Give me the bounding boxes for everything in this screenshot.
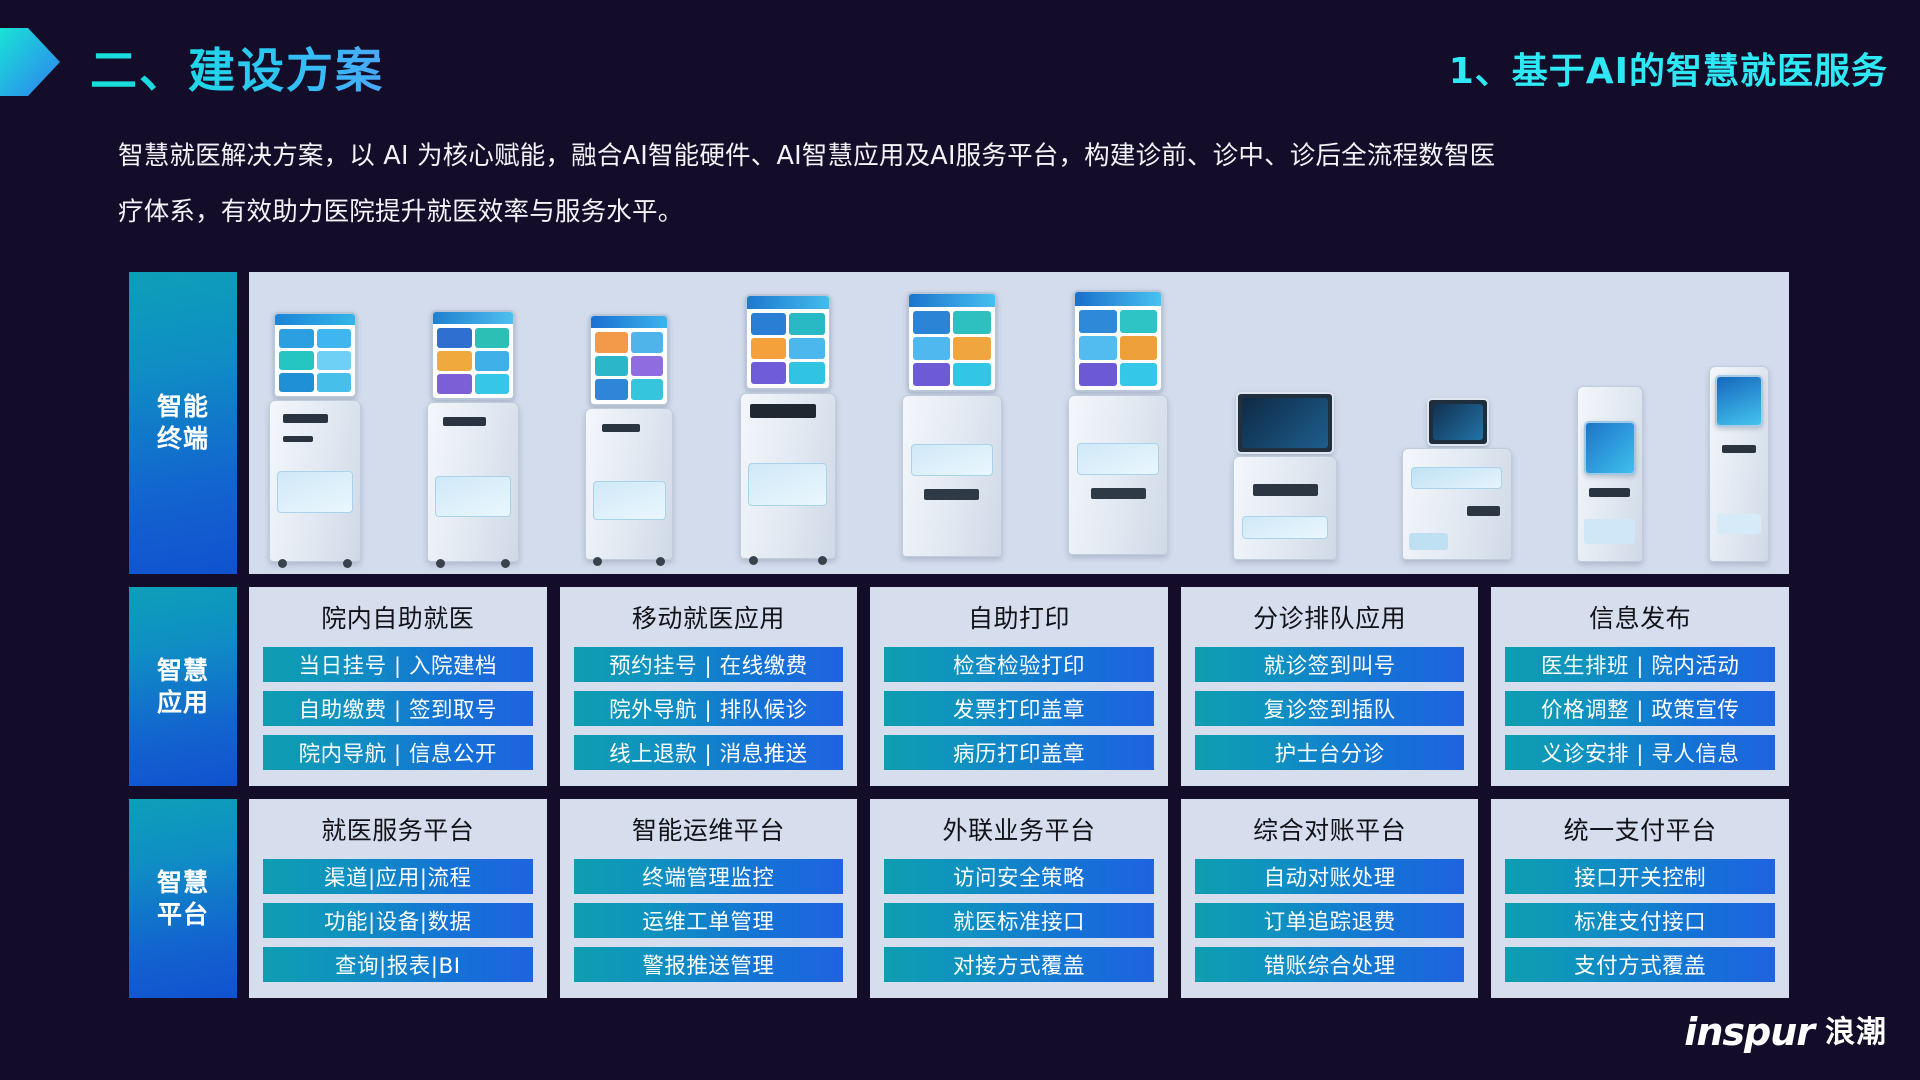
platform-pill[interactable]: 功能|设备|数据: [263, 903, 533, 938]
self-service-kiosk-printer: [738, 294, 838, 562]
app-pill[interactable]: 病历打印盖章: [884, 735, 1154, 770]
platform-pill[interactable]: 运维工单管理: [574, 903, 844, 938]
row-label-line-2: 终端: [157, 424, 209, 453]
card-title: 综合对账平台: [1195, 814, 1465, 848]
inspur-logo: inspur 浪潮: [1684, 1007, 1887, 1054]
row-label-line-1: 智慧: [157, 868, 209, 897]
row-label-line-1: 智慧: [157, 656, 209, 685]
platform-card-smart-ops[interactable]: 智能运维平台 终端管理监控 运维工单管理 警报推送管理: [560, 799, 858, 998]
card-title: 移动就医应用: [574, 602, 844, 636]
row-label-smart-applications: 智慧 应用: [129, 587, 237, 786]
self-service-kiosk-inspur-1: [900, 292, 1004, 562]
platform-card-medical-service[interactable]: 就医服务平台 渠道|应用|流程 功能|设备|数据 查询|报表|BI: [249, 799, 547, 998]
desktop-terminal-counter: [1232, 392, 1338, 562]
row-label-smart-platform: 智慧 平台: [129, 799, 237, 998]
platform-pill[interactable]: 自动对账处理: [1195, 859, 1465, 894]
app-card-hospital-self-service[interactable]: 院内自助就医 当日挂号 | 入院建档 自助缴费 | 签到取号 院内导航 | 信息…: [249, 587, 547, 786]
intro-paragraph-line-1: 智慧就医解决方案，以 AI 为核心赋能，融合AI智能硬件、AI智慧应用及AI服务…: [118, 128, 1818, 184]
logo-wordmark: inspur: [1684, 1010, 1814, 1054]
app-pill[interactable]: 就诊签到叫号: [1195, 647, 1465, 682]
card-title: 外联业务平台: [884, 814, 1154, 848]
platform-pill[interactable]: 就医标准接口: [884, 903, 1154, 938]
card-title: 就医服务平台: [263, 814, 533, 848]
card-title: 信息发布: [1505, 602, 1775, 636]
page-title: 二、建设方案: [90, 32, 384, 101]
app-pill[interactable]: 院内导航 | 信息公开: [263, 735, 533, 770]
row-body-smart-platform: 就医服务平台 渠道|应用|流程 功能|设备|数据 查询|报表|BI 智能运维平台…: [249, 799, 1789, 998]
platform-pill[interactable]: 警报推送管理: [574, 947, 844, 982]
app-card-self-print[interactable]: 自助打印 检查检验打印 发票打印盖章 病历打印盖章: [870, 587, 1168, 786]
wall-mounted-terminal: [1575, 386, 1645, 562]
platform-pill[interactable]: 错账综合处理: [1195, 947, 1465, 982]
app-pill[interactable]: 院外导航 | 排队候诊: [574, 691, 844, 726]
app-card-information-release[interactable]: 信息发布 医生排班 | 院内活动 价格调整 | 政策宣传 义诊安排 | 寻人信息: [1491, 587, 1789, 786]
app-pill[interactable]: 当日挂号 | 入院建档: [263, 647, 533, 682]
platform-pill[interactable]: 查询|报表|BI: [263, 947, 533, 982]
platform-pill[interactable]: 渠道|应用|流程: [263, 859, 533, 894]
platform-pill[interactable]: 终端管理监控: [574, 859, 844, 894]
architecture-grid: 智能 终端: [129, 272, 1789, 998]
app-card-triage-queue[interactable]: 分诊排队应用 就诊签到叫号 复诊签到插队 护士台分诊: [1181, 587, 1479, 786]
intro-paragraph: 智慧就医解决方案，以 AI 为核心赋能，融合AI智能硬件、AI智慧应用及AI服务…: [118, 128, 1818, 240]
chevron-right-marker-icon: [0, 26, 62, 98]
slim-floor-kiosk: [1707, 366, 1771, 562]
row-smart-applications: 智慧 应用 院内自助就医 当日挂号 | 入院建档 自助缴费 | 签到取号 院内导…: [129, 587, 1789, 786]
row-smart-platform: 智慧 平台 就医服务平台 渠道|应用|流程 功能|设备|数据 查询|报表|BI …: [129, 799, 1789, 998]
row-body-smart-terminals: [249, 272, 1789, 574]
row-body-smart-applications: 院内自助就医 当日挂号 | 入院建档 自助缴费 | 签到取号 院内导航 | 信息…: [249, 587, 1789, 786]
app-pill[interactable]: 医生排班 | 院内活动: [1505, 647, 1775, 682]
app-pill[interactable]: 线上退款 | 消息推送: [574, 735, 844, 770]
platform-pill[interactable]: 支付方式覆盖: [1505, 947, 1775, 982]
subsection-title: 1、基于AI的智慧就医服务: [1449, 42, 1888, 94]
card-title: 院内自助就医: [263, 602, 533, 636]
app-pill[interactable]: 自助缴费 | 签到取号: [263, 691, 533, 726]
app-pill[interactable]: 义诊安排 | 寻人信息: [1505, 735, 1775, 770]
row-label-line-1: 智能: [157, 392, 209, 421]
self-service-kiosk-inspur-2: [1066, 290, 1170, 562]
self-service-kiosk-tall-1: [267, 312, 363, 562]
app-pill[interactable]: 护士台分诊: [1195, 735, 1465, 770]
platform-pill[interactable]: 访问安全策略: [884, 859, 1154, 894]
self-service-kiosk-tall-3: [583, 314, 675, 562]
card-title: 智能运维平台: [574, 814, 844, 848]
app-pill[interactable]: 发票打印盖章: [884, 691, 1154, 726]
app-card-mobile-medical[interactable]: 移动就医应用 预约挂号 | 在线缴费 院外导航 | 排队候诊 线上退款 | 消息…: [560, 587, 858, 786]
cabinet-terminal: [1401, 398, 1513, 562]
app-pill[interactable]: 预约挂号 | 在线缴费: [574, 647, 844, 682]
platform-pill[interactable]: 接口开关控制: [1505, 859, 1775, 894]
self-service-kiosk-tall-2: [425, 310, 521, 562]
row-label-smart-terminals: 智能 终端: [129, 272, 237, 574]
card-title: 分诊排队应用: [1195, 602, 1465, 636]
platform-pill[interactable]: 对接方式覆盖: [884, 947, 1154, 982]
app-pill[interactable]: 检查检验打印: [884, 647, 1154, 682]
card-title: 统一支付平台: [1505, 814, 1775, 848]
row-smart-terminals: 智能 终端: [129, 272, 1789, 574]
platform-card-unified-payment[interactable]: 统一支付平台 接口开关控制 标准支付接口 支付方式覆盖: [1491, 799, 1789, 998]
logo-chinese-name: 浪潮: [1825, 1007, 1887, 1054]
platform-pill[interactable]: 订单追踪退费: [1195, 903, 1465, 938]
card-title: 自助打印: [884, 602, 1154, 636]
platform-pill[interactable]: 标准支付接口: [1505, 903, 1775, 938]
slide-canvas: 二、建设方案 1、基于AI的智慧就医服务 智慧就医解决方案，以 AI 为核心赋能…: [0, 0, 1920, 1080]
row-label-line-2: 平台: [157, 900, 209, 929]
app-pill[interactable]: 价格调整 | 政策宣传: [1505, 691, 1775, 726]
intro-paragraph-line-2: 疗体系，有效助力医院提升就医效率与服务水平。: [118, 184, 1818, 240]
app-pill[interactable]: 复诊签到插队: [1195, 691, 1465, 726]
platform-card-reconciliation[interactable]: 综合对账平台 自动对账处理 订单追踪退费 错账综合处理: [1181, 799, 1479, 998]
row-label-line-2: 应用: [157, 688, 209, 717]
terminal-gallery: [249, 272, 1789, 574]
platform-card-external-business[interactable]: 外联业务平台 访问安全策略 就医标准接口 对接方式覆盖: [870, 799, 1168, 998]
